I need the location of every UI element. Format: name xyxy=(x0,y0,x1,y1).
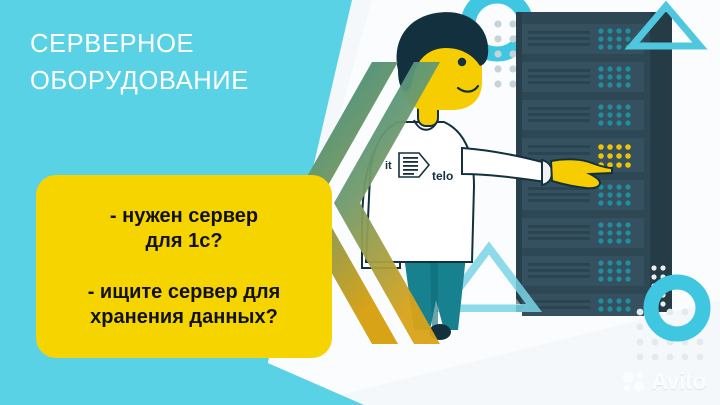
person-eye xyxy=(458,58,466,66)
svg-text:it: it xyxy=(385,160,392,172)
avito-dots-icon xyxy=(622,371,646,393)
rack-slot xyxy=(522,100,644,130)
page-title: Серверное оборудование xyxy=(30,26,320,100)
rack-slot xyxy=(522,62,644,92)
rack-slot xyxy=(522,218,644,248)
avito-wordmark: Avito xyxy=(651,368,706,395)
avito-watermark: Avito xyxy=(622,368,706,395)
offer-line-2: - ищите сервер для хранения данных? xyxy=(88,280,281,330)
svg-text:telo: telo xyxy=(432,169,453,183)
offer-line-1: - нужен сервер для 1с? xyxy=(110,204,258,254)
rack-slot xyxy=(522,256,644,286)
rack-slot xyxy=(522,294,644,316)
offer-card: - нужен сервер для 1с? - ищите сервер дл… xyxy=(36,175,332,358)
banner-canvas: it telo xyxy=(0,0,720,405)
